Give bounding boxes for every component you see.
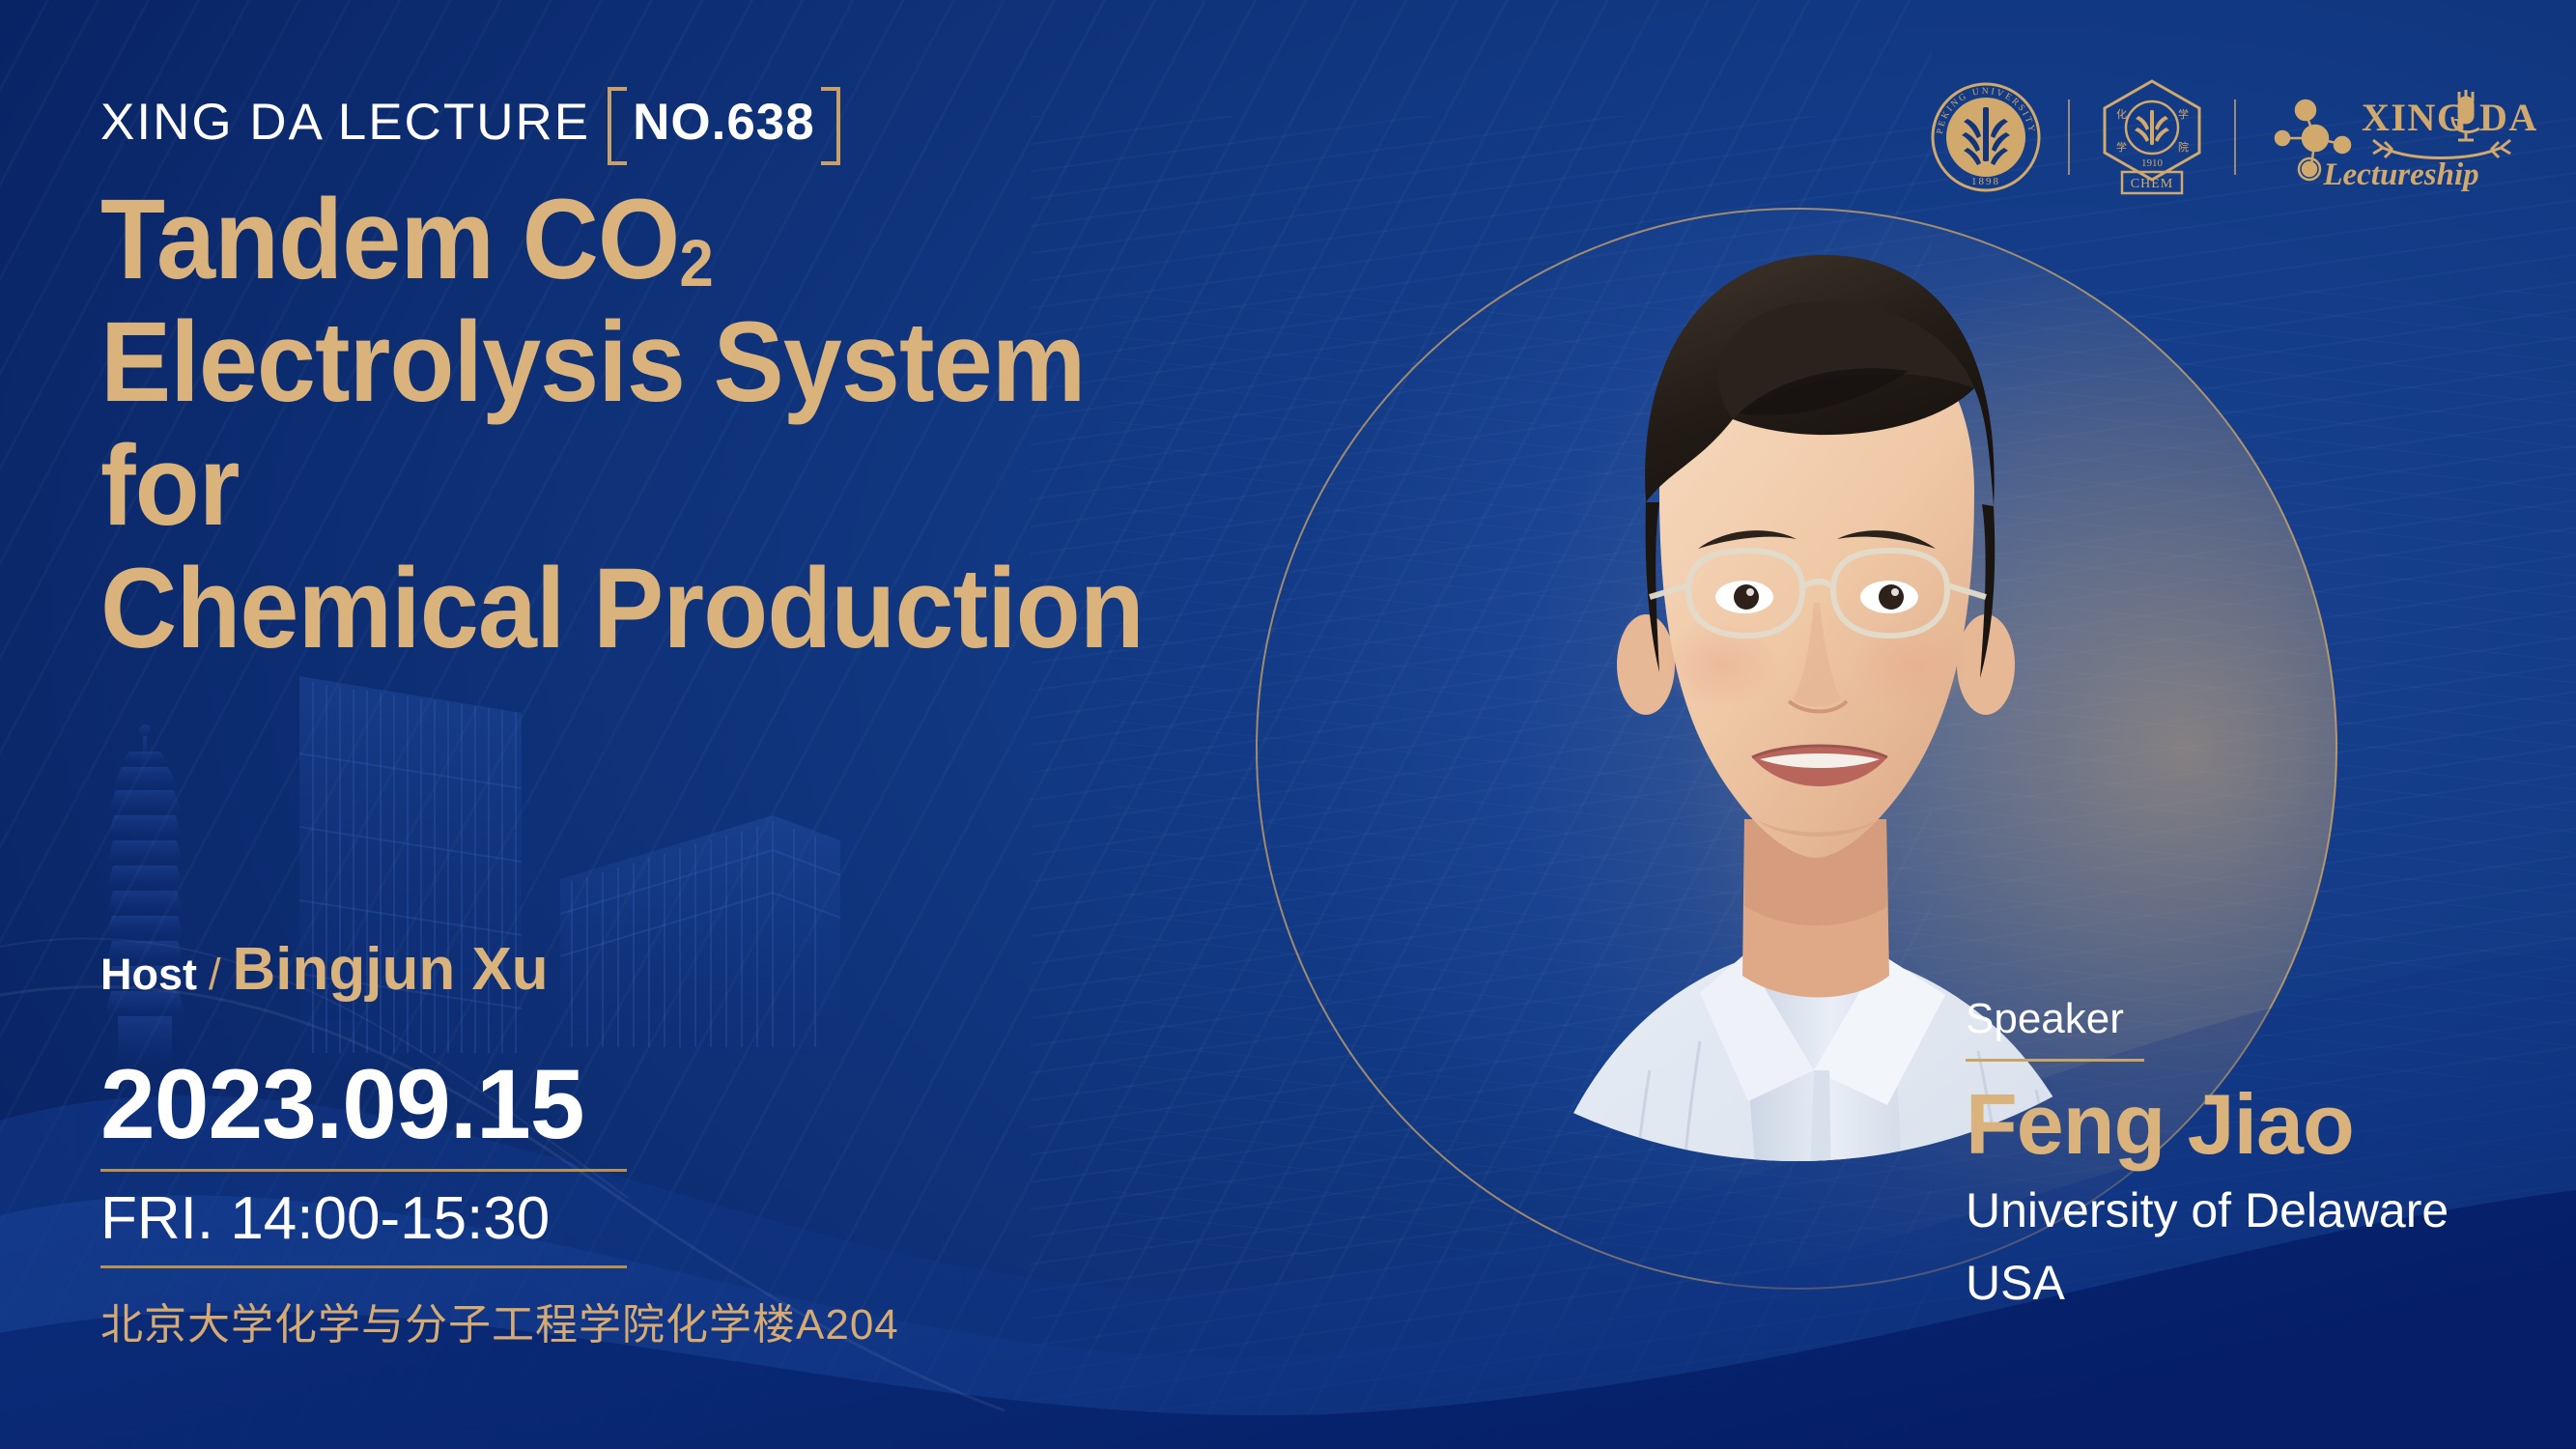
boya-pagoda-icon <box>106 724 185 1063</box>
speaker-divider-rule <box>1966 1059 2144 1062</box>
event-date: 2023.09.15 <box>100 1053 641 1155</box>
event-time: FRI. 14:00-15:30 <box>100 1187 641 1250</box>
lecture-kicker: XING DA LECTURE NO.638 <box>100 93 840 152</box>
co2-subscript: 2 <box>679 226 712 300</box>
title-line-1-text: Tandem CO <box>100 176 679 303</box>
page-title: Tandem CO2 Electrolysis System for Chemi… <box>100 179 1205 671</box>
svg-text:1910: 1910 <box>2141 157 2164 169</box>
title-line-1: Tandem CO2 <box>100 179 1205 301</box>
host-separator: / <box>209 950 221 1000</box>
speaker-name: Feng Jiao <box>1966 1081 2545 1168</box>
svg-text:CHEM: CHEM <box>2131 177 2173 191</box>
speaker-block: Speaker Feng Jiao University of Delaware… <box>1966 995 2545 1313</box>
lecture-number-bracket: NO.638 <box>608 93 840 152</box>
svg-text:1898: 1898 <box>1971 176 2000 187</box>
host-block: Host / Bingjun Xu <box>100 935 549 1004</box>
peking-university-seal-logo: PEKING UNIVERSITY 1898 <box>1929 80 2043 194</box>
xing-da-lectureship-logo: XING DA Lectureship <box>2261 80 2541 194</box>
event-details-block: 2023.09.15 FRI. 14:00-15:30 北京大学化学与分子工程学… <box>100 1053 641 1351</box>
logo-divider-2 <box>2234 99 2236 175</box>
lecture-poster: XING DA LECTURE NO.638 Tandem CO2 Electr… <box>0 0 2576 1449</box>
speaker-label: Speaker <box>1966 995 2545 1043</box>
divider-rule-top <box>100 1169 627 1172</box>
chemistry-tower-icon <box>299 676 522 1063</box>
divider-rule-bottom <box>100 1265 627 1268</box>
svg-text:化: 化 <box>2116 107 2127 121</box>
svg-text:院: 院 <box>2178 140 2189 154</box>
host-label: Host <box>100 950 197 1000</box>
svg-text:学: 学 <box>2116 140 2127 154</box>
svg-text:Lectureship: Lectureship <box>2322 157 2478 192</box>
host-name: Bingjun Xu <box>233 935 549 1004</box>
svg-text:学: 学 <box>2178 107 2189 121</box>
event-venue: 北京大学化学与分子工程学院化学楼A204 <box>100 1290 641 1351</box>
speaker-affiliation-line-2: USA <box>1966 1254 2545 1313</box>
speaker-affiliation-line-1: University of Delaware <box>1966 1181 2545 1240</box>
svg-text:DA: DA <box>2479 96 2538 139</box>
kicker-prefix: XING DA LECTURE <box>100 93 590 152</box>
title-line-2: Electrolysis System for <box>100 301 1205 548</box>
title-line-3: Chemical Production <box>100 548 1205 670</box>
logo-divider <box>2068 99 2070 175</box>
pku-chemistry-college-logo: 化 学 学 院 1910 CHEM <box>2095 77 2209 197</box>
chemistry-building-icon <box>560 815 840 1053</box>
lecture-number: NO.638 <box>633 93 815 152</box>
logo-row: PEKING UNIVERSITY 1898 化 学 学 院 1910 CHEM <box>1929 79 2541 195</box>
